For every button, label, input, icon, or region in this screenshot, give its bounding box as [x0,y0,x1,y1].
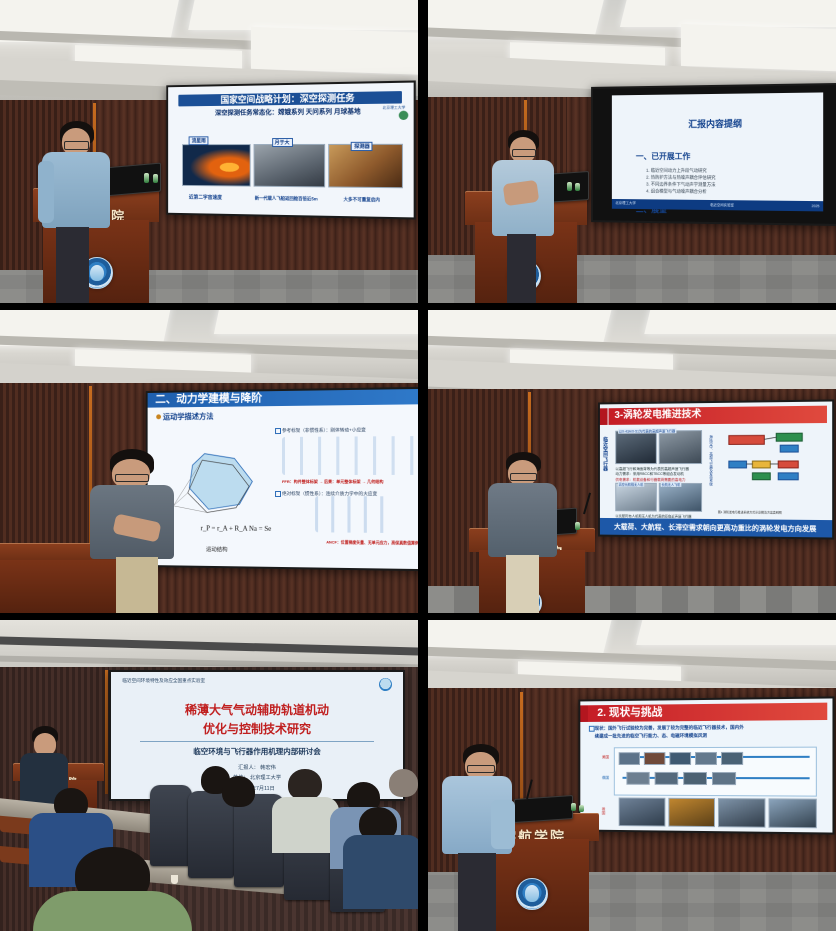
slide-tag-4c: 长航无人飞机 [661,481,682,486]
audience-head [288,769,321,800]
slide-tag: 月于大 [272,139,293,148]
presenter-6 [440,744,522,931]
timeline-thumb [644,752,666,765]
slide-thumb [768,798,816,828]
slide-header-5: 临近空间环境特性及效应全国重点实验室 [122,678,205,684]
slide-banner-4: 大载荷、大航程、长滞空需求朝向更高功重比的涡轮发电方向发展 [614,522,816,534]
slide-title-4: 3-涡轮发电推进技术 [609,406,827,424]
water-bottle [579,805,584,812]
slide-diagram-label-4: 海陆空中、高超飞行器及发电系统 [709,435,714,486]
laptop-6 [514,795,573,823]
slide-title-1: 国家空间战略计划：深空探测任务 [178,91,401,106]
projection-screen-2: 汇报内容提纲 一、已开展工作 1. 临近空间动力上升段气动研究 2. 热防护方法… [591,83,836,226]
checkbox-icon [589,725,595,731]
collage-cell-1[interactable]: 国家空间战略计划：深空探测任务 深空探测任务常态化：嫦娥系列 天问系列 月球基地… [0,0,418,310]
slide-text-2: 动力需求：采用RBCC和TBCC等组合发动机 [616,472,684,477]
slide-tag-4a: 以X-43A/X-51为代表的高超声速飞行器 [618,429,676,434]
timeline-panel [614,746,816,796]
collage-cell-5[interactable]: 临近空间环境特性及效应全国重点实验室 稀薄大气气动辅助轨道机动 优化与控制技术研… [0,620,418,931]
slide-thumb [619,797,665,826]
slide-footer-right: 2025 [812,204,820,208]
timeline-thumb [712,772,736,785]
slide-thumb [659,430,701,465]
slide-footer-logo: 北京理工大学 [615,201,636,206]
projection-screen-4: 3-涡轮发电推进技术 临近空间飞行器 以X-43A/X-51为代表的高超声速飞行… [598,399,834,539]
paper-cup [171,875,178,884]
arch-diagram-lower [315,496,388,532]
slide-caption-3: 运动结构 [206,545,227,553]
slide-title-3: 二、动力学建模与降阶 [148,389,418,408]
timeline-thumb [655,772,679,785]
photo-panel-1: 国家空间战略计划：深空探测任务 深空探测任务常态化：嫦娥系列 天问系列 月球基地… [0,0,418,303]
presenter-1 [38,121,122,303]
timeline-thumb [627,772,650,785]
checkbox-icon [275,428,281,434]
slide-tag-4b: 高空长航程无人机 [618,481,645,486]
slide-thumb [182,144,251,187]
collage-cell-2[interactable]: 汇报内容提纲 一、已开展工作 1. 临近空间动力上升段气动研究 2. 热防护方法… [418,0,836,310]
collage-cell-3[interactable]: 二、动力学建模与降阶 运动学描述方法 参考标架（非惯性系）：刚体转动+小应变 绝… [0,310,418,620]
slide-thumb [616,483,658,512]
projection-screen-1: 国家空间战略计划：深空探测任务 深空探测任务常态化：嫦娥系列 天问系列 月球基地… [166,81,415,220]
timeline-thumb [695,751,717,764]
slide-side-label-6: 我国 [602,807,607,814]
slide-thumb [668,798,715,827]
audience-head [389,769,418,797]
slide-thumb [253,144,325,187]
timeline-thumb [683,772,707,785]
presenter-4 [485,452,567,613]
water-bottle [153,174,158,183]
slide-side-label-4: 临近空间飞行器 [602,437,609,471]
slide-figure-caption-4: 图1 涡轮发电与推进系统方式示意图及方案类别图 [718,510,782,515]
slide-bullet-3: 运动学描述方法 [163,408,418,422]
slide-body-2: 续建成一批先进的临空飞行能力、态、电磁环境模拟风洞 [595,732,707,739]
title-accent-bar [580,705,587,722]
slide-legend-ffr: FFR：构件整体标架 → 后果：单元整体标架 → 几何结构 [282,479,384,485]
photo-panel-5: 临近空间环境特性及效应全国重点实验室 稀薄大气气动辅助轨道机动 优化与控制技术研… [0,620,418,931]
photo-panel-2: 汇报内容提纲 一、已开展工作 1. 临近空间动力上升段气动研究 2. 热防护方法… [428,0,836,303]
water-bottle [567,182,572,191]
slide-item: 4. 组合模型与气动噪声耦合分析 [646,187,824,196]
photo-panel-4: 3-涡轮发电推进技术 临近空间飞行器 以X-43A/X-51为代表的高超声速飞行… [428,310,836,613]
slide-logo-icon-5 [379,678,392,691]
slide-title-line-1: 稀薄大气气动辅助轨道机动 [111,701,404,718]
audience-body [343,835,418,910]
presenter-3 [88,449,188,613]
slide-thumb [717,798,765,827]
slide-equation-3: r_P = r_A + R_A Na = Se [201,524,272,533]
photo-panel-6: 2. 现状与挑战 现状：国外飞行试验较为完善，发展了较为完整的临近飞行器技术，国… [428,620,836,931]
slide-affiliation-5: 单位： 北京理工大学 [111,774,404,781]
slide-title-2: 汇报内容提纲 [612,116,824,131]
arch-diagrams [282,435,417,475]
slide-legend-anc: ANCF：位置梯度矢量、无单元应力，高保真数值算例 [326,541,418,547]
slide-caption: 新一代载人飞船返回舱百倍近5m [255,196,318,203]
audience-head [222,776,255,807]
slide-footer-center: 临近空间实验室 [710,202,734,207]
slide-point-1: 参考标架（非惯性系）：刚体转动+小应变 [282,427,366,434]
water-bottle [575,183,580,191]
photo-panel-3: 二、动力学建模与降阶 运动学描述方法 参考标架（非惯性系）：刚体转动+小应变 绝… [0,310,418,613]
slide-subtitle-1: 深空探测任务常态化：嫦娥系列 天问系列 月球基地 [173,107,408,119]
slide-caption: 近第二宇宙速度 [189,194,222,201]
slide-thumb [616,430,658,464]
audience-body [272,797,339,853]
slide-tag: 流星雨 [189,136,209,145]
slide-title-line-2: 优化与控制技术研究 [111,720,404,737]
audience-body-foreground [33,891,192,931]
system-block-diagram [723,425,822,507]
slide-title-6: 2. 现状与挑战 [597,704,662,721]
presenter-2 [489,130,562,303]
timeline-thumb [619,752,640,765]
projection-screen-6: 2. 现状与挑战 现状：国外飞行试验较为完善，发展了较为完整的临近飞行器技术，国… [578,696,834,834]
slide-section-1: 一、已开展工作 [636,151,824,162]
bullet-dot-icon [156,414,161,419]
audience-chair [150,785,192,866]
timeline-thumb [721,751,743,764]
slide-seal-icon [398,111,408,120]
collage-cell-6[interactable]: 2. 现状与挑战 现状：国外飞行试验较为完善，发展了较为完整的临近飞行器技术，国… [418,620,836,931]
water-bottle [571,803,576,811]
slide-presenter-5: 汇报人： 韩宏伟 [111,764,404,771]
slide-caption: 大多不可重复启内 [343,197,379,204]
water-bottle [144,173,149,183]
water-bottle [575,522,580,530]
timeline-thumb [670,752,692,765]
collage-cell-4[interactable]: 3-涡轮发电推进技术 临近空间飞行器 以X-43A/X-51为代表的高超声速飞行… [418,310,836,620]
slide-tag: 探测器 [351,142,373,151]
slide-subtitle-5: 临空环境与飞行器作用机理内部研讨会 [111,746,404,757]
checkbox-icon [275,491,281,497]
photo-collage: 国家空间战略计划：深空探测任务 深空探测任务常态化：嫦娥系列 天问系列 月球基地… [0,0,836,931]
title-accent-bar [600,408,608,425]
row-label-1: 美国 [602,755,609,760]
slide-thumb [659,483,701,512]
divider [140,741,374,742]
slide-body-1: 现状：国外飞行试验较为完善，发展了较为完整的临近飞行器技术，国内外 [595,724,744,731]
row-label-2: 俄国 [602,775,609,780]
